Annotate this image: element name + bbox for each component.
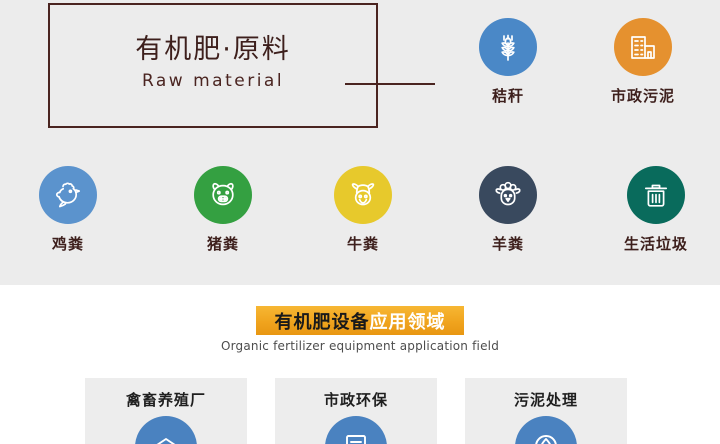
- sheep-icon: [479, 166, 537, 224]
- livestock-icon: [135, 416, 197, 444]
- material-item-pig[interactable]: 猪粪: [178, 166, 268, 254]
- application-banner: 有机肥设备 应用领域: [256, 306, 464, 335]
- application-card-title: 禽畜养殖厂: [85, 389, 247, 410]
- raw-material-section: 有机肥·原料 Raw material 秸秆 市政污泥: [0, 0, 720, 285]
- material-item-wheat[interactable]: 秸秆: [463, 18, 553, 106]
- material-item-cow[interactable]: 牛粪: [318, 166, 408, 254]
- cow-icon: [334, 166, 392, 224]
- material-item-building[interactable]: 市政污泥: [598, 18, 688, 106]
- material-label: 鸡粪: [23, 233, 113, 254]
- material-item-sheep[interactable]: 羊粪: [463, 166, 553, 254]
- page-root: 有机肥·原料 Raw material 秸秆 市政污泥: [0, 0, 720, 444]
- building-icon: [614, 18, 672, 76]
- application-card-title: 市政环保: [275, 389, 437, 410]
- material-item-chicken[interactable]: 鸡粪: [23, 166, 113, 254]
- sludge-icon: [515, 416, 577, 444]
- material-label: 市政污泥: [598, 85, 688, 106]
- material-label: 羊粪: [463, 233, 553, 254]
- application-banner-subtitle: Organic fertilizer equipment application…: [0, 339, 720, 353]
- banner-label-light: 应用领域: [370, 308, 446, 334]
- pig-icon: [194, 166, 252, 224]
- page-title-cn: 有机肥·原料: [50, 27, 376, 66]
- wheat-icon: [479, 18, 537, 76]
- chicken-icon: [39, 166, 97, 224]
- banner-label-dark: 有机肥设备: [275, 308, 370, 334]
- application-card[interactable]: 污泥处理: [465, 378, 627, 444]
- material-label: 秸秆: [463, 85, 553, 106]
- material-item-trash[interactable]: 生活垃圾: [611, 166, 701, 254]
- material-label: 牛粪: [318, 233, 408, 254]
- application-card-title: 污泥处理: [465, 389, 627, 410]
- application-field-section: 有机肥设备 应用领域 Organic fertilizer equipment …: [0, 285, 720, 444]
- application-card[interactable]: 市政环保: [275, 378, 437, 444]
- title-divider-line: [345, 83, 435, 85]
- title-frame: 有机肥·原料 Raw material: [48, 3, 378, 128]
- application-card[interactable]: 禽畜养殖厂: [85, 378, 247, 444]
- page-title-en: Raw material: [50, 71, 376, 91]
- material-label: 生活垃圾: [611, 233, 701, 254]
- document-icon: [325, 416, 387, 444]
- material-label: 猪粪: [178, 233, 268, 254]
- trash-icon: [627, 166, 685, 224]
